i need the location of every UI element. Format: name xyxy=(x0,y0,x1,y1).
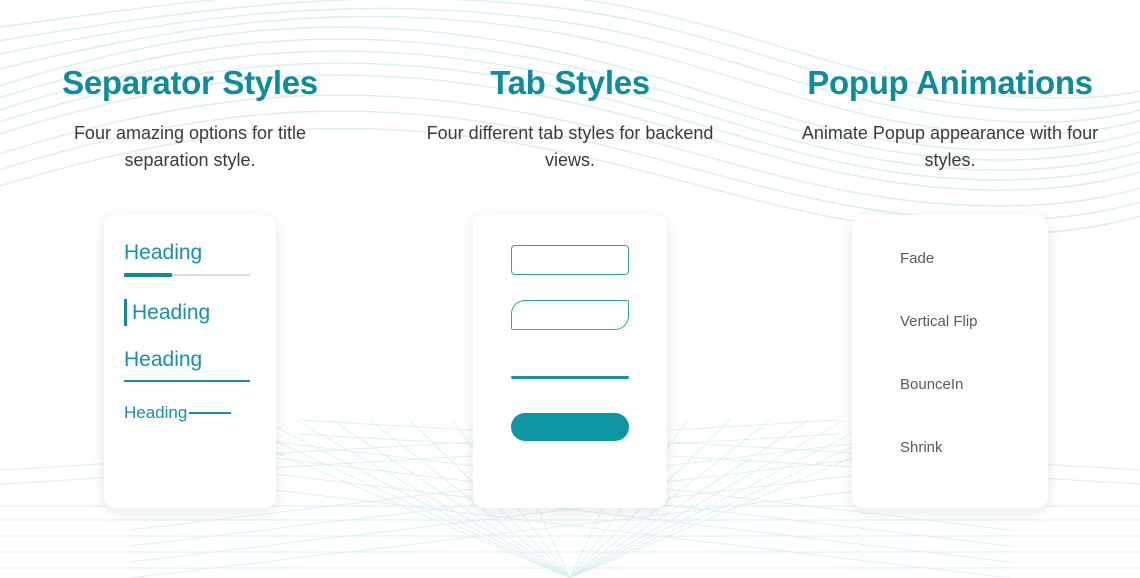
description-tab-styles: Four different tab styles for backend vi… xyxy=(420,120,720,174)
tab-option-filled-pill[interactable] xyxy=(511,413,629,441)
separator-option-inline-trailing-line[interactable]: Heading xyxy=(124,404,256,423)
page-title-separator-styles: Separator Styles xyxy=(62,64,318,102)
separator-rule-full xyxy=(124,380,250,382)
separator-rule-progress xyxy=(124,273,250,277)
description-separator-styles: Four amazing options for title separatio… xyxy=(40,120,340,174)
page-title-popup-animations: Popup Animations xyxy=(807,64,1092,102)
list-item-animation-shrink[interactable]: Shrink xyxy=(852,440,943,455)
page-title-tab-styles: Tab Styles xyxy=(490,64,650,102)
separator-rule-inline xyxy=(189,412,231,414)
feature-showcase-banner: Separator Styles Four amazing options fo… xyxy=(0,0,1140,578)
column-popup-animations: Popup Animations Animate Popup appearanc… xyxy=(760,0,1140,508)
separator-vertical-bar xyxy=(124,299,127,326)
card-separator-preview: Heading Heading Heading Heading xyxy=(104,215,276,508)
description-popup-animations: Animate Popup appearance with four style… xyxy=(800,120,1100,174)
column-separator-styles: Separator Styles Four amazing options fo… xyxy=(0,0,380,508)
card-animation-list: Fade Vertical Flip BounceIn Shrink xyxy=(852,215,1048,508)
separator-heading-label: Heading xyxy=(132,301,210,324)
list-item-animation-bouncein[interactable]: BounceIn xyxy=(852,377,963,392)
card-tab-preview xyxy=(473,215,667,508)
separator-option-full-underline[interactable]: Heading xyxy=(124,348,256,382)
separator-heading-label: Heading xyxy=(124,241,202,264)
list-item-animation-fade[interactable]: Fade xyxy=(852,251,934,266)
tab-option-outlined-rectangle[interactable] xyxy=(511,245,629,275)
column-tab-styles: Tab Styles Four different tab styles for… xyxy=(380,0,760,508)
separator-option-left-vertical-bar[interactable]: Heading xyxy=(124,299,256,326)
tab-option-underline-bar[interactable] xyxy=(511,376,629,379)
separator-heading-label: Heading xyxy=(124,348,202,371)
tab-option-outlined-diagonal-rounded[interactable] xyxy=(511,300,629,330)
separator-option-underline-progress[interactable]: Heading xyxy=(124,241,256,277)
separator-heading-label: Heading xyxy=(124,404,187,423)
list-item-animation-vertical-flip[interactable]: Vertical Flip xyxy=(852,314,978,329)
